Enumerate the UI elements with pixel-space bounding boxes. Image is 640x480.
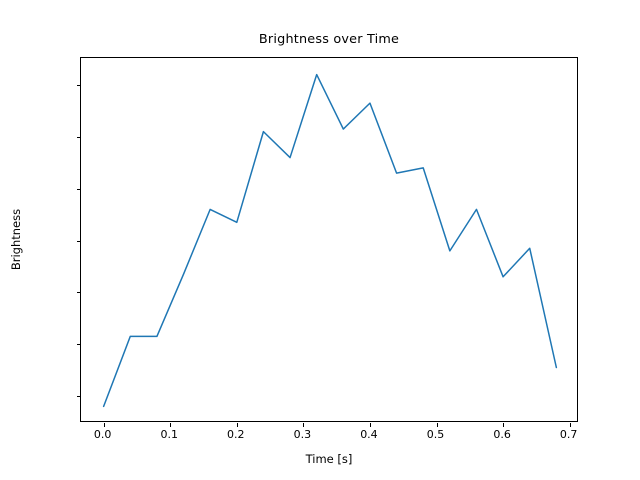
x-tick-mark [570,423,571,427]
x-tick-label: 0.3 [294,428,312,441]
y-tick-mark [77,85,81,86]
y-tick-mark [77,344,81,345]
chart-title: Brightness over Time [80,32,578,47]
y-tick-mark [77,396,81,397]
x-tick-mark [303,423,304,427]
x-tick-mark [104,423,105,427]
x-tick-label: 0.7 [560,428,578,441]
x-tick-label: 0.1 [160,428,178,441]
x-tick-mark [370,423,371,427]
x-tick-label: 0.2 [227,428,245,441]
x-tick-mark [170,423,171,427]
x-tick-label: 0.6 [493,428,511,441]
x-tick-label: 0.0 [94,428,112,441]
x-tick-label: 0.5 [427,428,445,441]
plot-area [80,57,578,422]
chart-figure: Brightness over Time 6080100120140160180… [0,0,640,480]
y-tick-mark [77,137,81,138]
y-tick-mark [77,241,81,242]
x-tick-mark [503,423,504,427]
data-polyline [104,75,557,407]
line-series-brightness [81,58,579,423]
x-axis-label: Time [s] [80,452,578,466]
x-tick-mark [237,423,238,427]
x-tick-label: 0.4 [360,428,378,441]
y-tick-mark [77,292,81,293]
y-tick-mark [77,189,81,190]
x-tick-mark [437,423,438,427]
y-axis-label: Brightness [6,57,26,422]
